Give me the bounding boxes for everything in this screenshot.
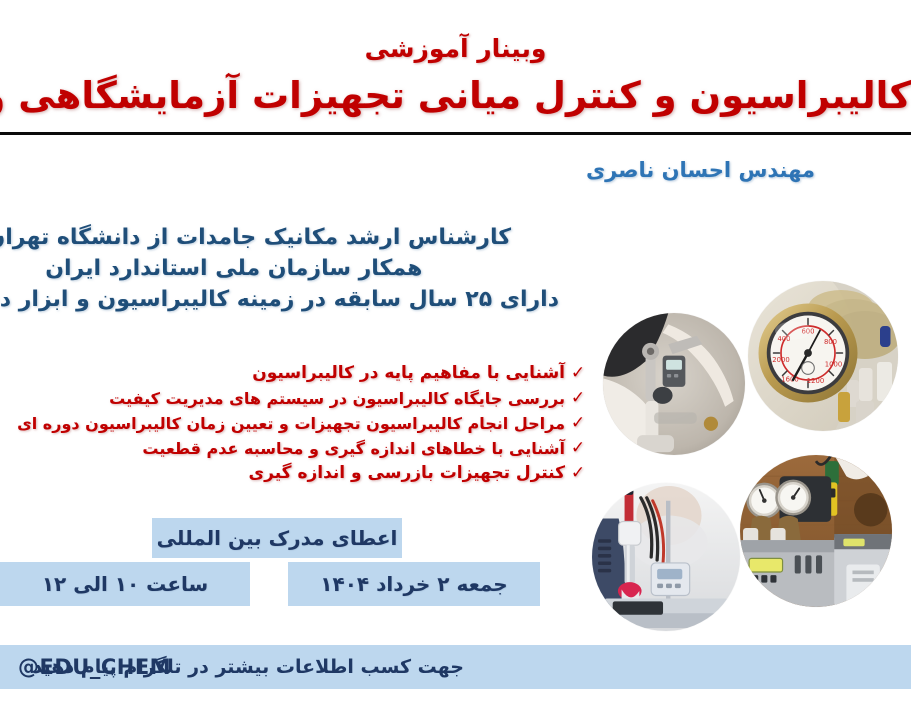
header-divider (0, 132, 911, 135)
presenter-name: مهندس احسان ناصری (586, 158, 815, 182)
check-icon: ✓ (565, 365, 591, 382)
page-title: کالیبراسیون و کنترل میانی تجهیزات آزمایش… (0, 74, 911, 117)
calibration-instruments-photo (740, 455, 892, 607)
certificate-badge: اعطای مدرک بین المللی (152, 518, 402, 558)
bio-line-3: دارای ۲۵ سال سابقه در زمینه کالیبراسیون … (0, 284, 559, 315)
check-icon: ✓ (565, 465, 591, 482)
webinar-poster: وبینار آموزشی کالیبراسیون و کنترل میانی … (0, 0, 911, 720)
svg-text:1000: 1000 (825, 361, 843, 369)
topic-label: مراحل انجام کالیبراسیون تجهیزات و تعیین … (17, 414, 565, 433)
topic-label: آشنایی با خطاهای اندازه گیری و محاسبه عد… (142, 439, 565, 458)
presenter-bio: کارشناس ارشد مکانیک جامدات از دانشگاه ته… (0, 222, 511, 316)
footer-bar: جهت کسب اطلاعات بیشتر در تلگرام پیام دهی… (0, 645, 911, 689)
check-icon: ✓ (565, 415, 591, 432)
event-date-badge: جمعه ۲ خرداد ۱۴۰۴ (288, 562, 540, 606)
svg-text:2000: 2000 (772, 356, 790, 364)
list-item: ✓ آشنایی با خطاهای اندازه گیری و محاسبه … (17, 437, 591, 459)
bio-line-1: کارشناس ارشد مکانیک جامدات از دانشگاه ته… (0, 222, 511, 253)
list-item: ✓ آشنایی با مفاهیم پایه در کالیبراسیون (17, 362, 591, 384)
topic-label: آشنایی با مفاهیم پایه در کالیبراسیون (252, 363, 565, 383)
topic-label: کنترل تجهیزات بازرسی و اندازه گیری (249, 463, 565, 483)
svg-text:800: 800 (824, 338, 837, 346)
micrometer-calibration-photo (603, 313, 745, 455)
check-icon: ✓ (565, 440, 591, 457)
telegram-handle[interactable]: @EDU_CHEM (18, 655, 171, 679)
check-icon: ✓ (565, 390, 591, 407)
list-item: ✓ کنترل تجهیزات بازرسی و اندازه گیری (17, 462, 591, 484)
pressure-gauge-photo: 600800 10001200 16002000 400 (748, 281, 898, 431)
bio-line-2: همکار سازمان ملی استاندارد ایران (0, 253, 511, 284)
topic-label: بررسی جایگاه کالیبراسیون در سیستم های مد… (109, 389, 565, 408)
list-item: ✓ مراحل انجام کالیبراسیون تجهیزات و تعیی… (17, 412, 591, 434)
svg-text:1200: 1200 (807, 377, 825, 385)
titrator-lab-photo (592, 483, 740, 631)
list-item: ✓ بررسی جایگاه کالیبراسیون در سیستم های … (17, 387, 591, 409)
header-subtitle: وبینار آموزشی (0, 34, 911, 63)
event-time-badge: ساعت ۱۰ الی ۱۲ (0, 562, 250, 606)
topics-list: ✓ آشنایی با مفاهیم پایه در کالیبراسیون ✓… (17, 362, 591, 487)
